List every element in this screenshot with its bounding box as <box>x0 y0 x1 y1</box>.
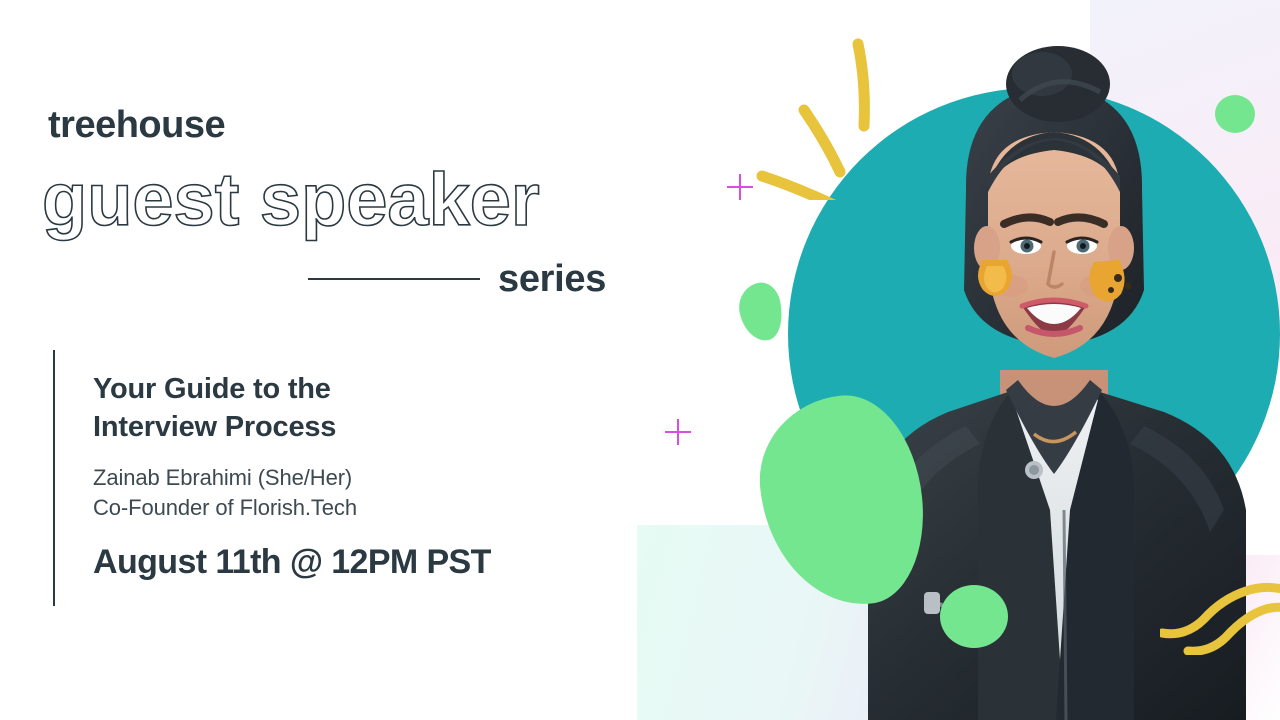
yellow-burst-strokes-icon <box>740 30 910 200</box>
series-divider <box>308 278 480 280</box>
green-blob-small-shape <box>734 279 787 344</box>
yellow-wave-strokes-icon <box>1160 575 1280 655</box>
page-title: guest speaker <box>42 163 540 237</box>
event-datetime: August 11th @ 12PM PST <box>93 545 613 579</box>
talk-title: Your Guide to the Interview Process <box>93 370 423 447</box>
guest-speaker-slide: treehouse guest speaker series Your Guid… <box>0 0 1280 720</box>
green-dot-bottom-shape <box>940 585 1008 648</box>
talk-details-block: Your Guide to the Interview Process Zain… <box>53 350 613 606</box>
speaker-role: Co-Founder of Florish.Tech <box>93 493 613 523</box>
series-row: series <box>308 256 624 302</box>
treehouse-wordmark: treehouse <box>48 106 225 144</box>
series-label: series <box>498 260 606 298</box>
plus-mark-lower-icon <box>665 419 691 445</box>
speaker-name: Zainab Ebrahimi (She/Her) <box>93 463 613 493</box>
